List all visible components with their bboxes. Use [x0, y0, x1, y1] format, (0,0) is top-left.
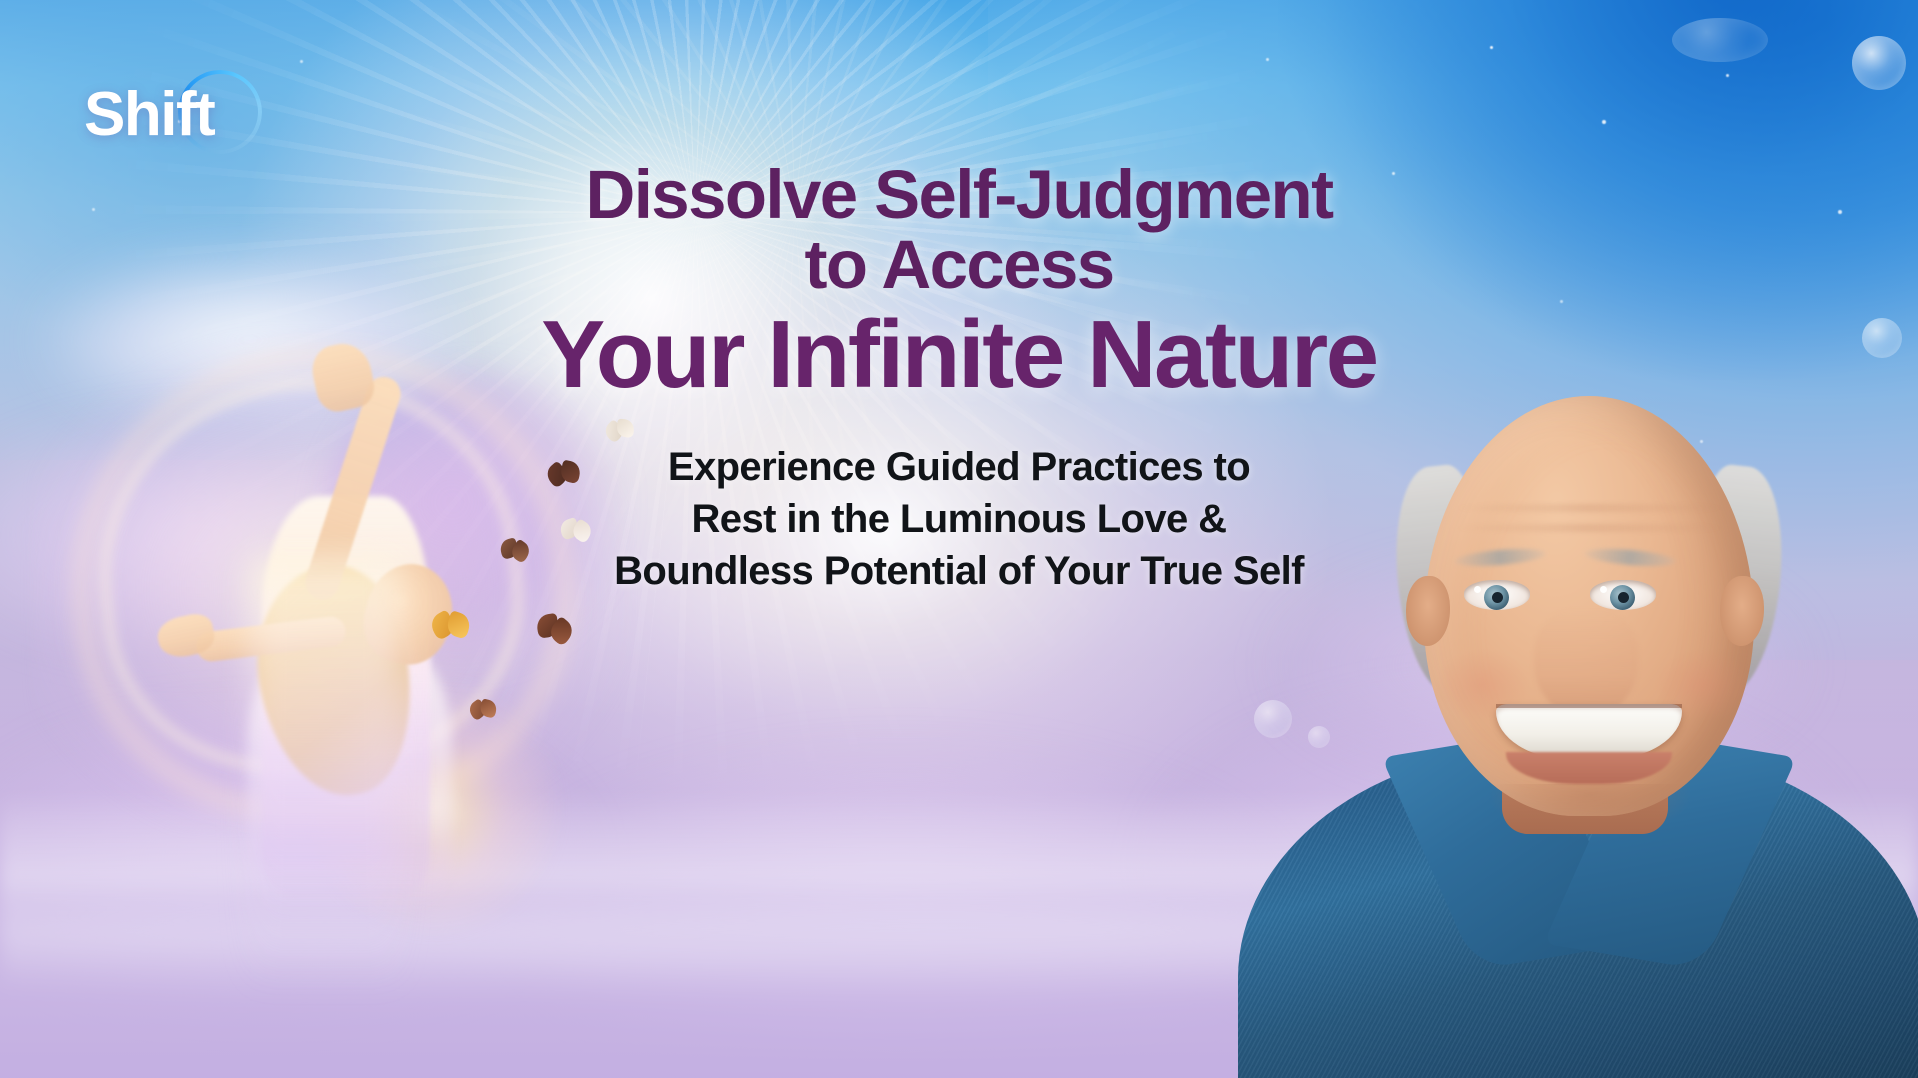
subheadline-line-2: Rest in the Luminous Love & [0, 493, 1918, 545]
brand-logo[interactable]: Shift [84, 78, 264, 168]
bokeh-orb [1852, 36, 1906, 90]
headline: Dissolve Self-Judgment to Access Your In… [0, 160, 1918, 405]
star-sparkle [1490, 46, 1493, 49]
light-column [250, 560, 400, 990]
star-sparkle [1726, 74, 1729, 77]
subheadline: Experience Guided Practices to Rest in t… [0, 441, 1918, 597]
headline-line-1: Dissolve Self-Judgment [586, 156, 1333, 233]
star-sparkle [300, 60, 303, 63]
logo-wordmark: Shift [84, 84, 214, 146]
star-sparkle [1602, 120, 1606, 124]
copy-block: Dissolve Self-Judgment to Access Your In… [0, 160, 1918, 597]
bokeh-orb [1672, 18, 1768, 62]
subheadline-line-3: Boundless Potential of Your True Self [0, 545, 1918, 597]
nose [1534, 608, 1638, 718]
star-sparkle [1266, 58, 1269, 61]
headline-line-3: Your Infinite Nature [0, 305, 1918, 405]
subheadline-line-1: Experience Guided Practices to [0, 441, 1918, 493]
chin-shadow [1490, 784, 1690, 838]
butterfly-icon [430, 610, 472, 647]
promo-banner: Shift Dissolve Self-Judgment to Access Y… [0, 0, 1918, 1078]
headline-line-2: to Access [0, 230, 1918, 300]
